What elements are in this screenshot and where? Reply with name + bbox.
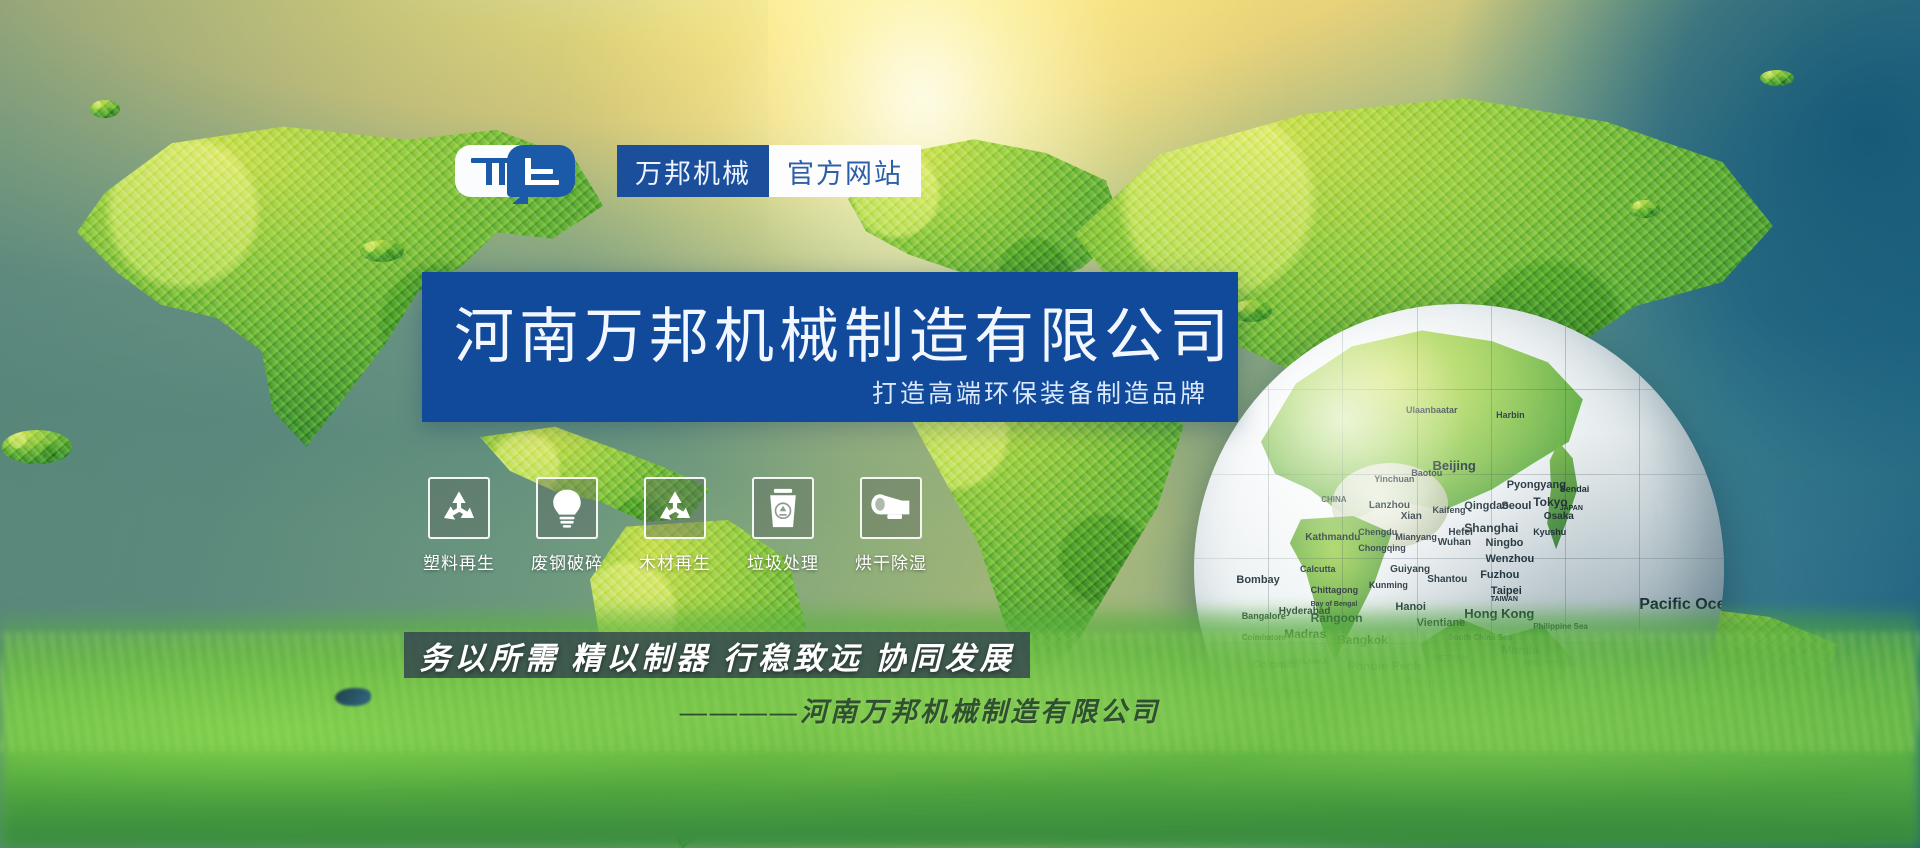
header-tabs: 万邦机械 官方网站 <box>617 145 921 197</box>
logo-e-mark <box>525 158 559 185</box>
insect-silhouette <box>335 688 371 706</box>
page-title: 河南万邦机械制造有限公司 <box>454 288 1234 375</box>
brand-logo[interactable] <box>455 145 575 197</box>
feature-label: 垃圾处理 <box>747 549 819 574</box>
feature-label: 废钢破碎 <box>531 549 603 574</box>
tab-company-name[interactable]: 万邦机械 <box>617 145 769 197</box>
blower-dryer-icon <box>869 492 913 524</box>
trash-bin-recycle-icon <box>766 487 800 529</box>
leaf-fleck <box>2 430 72 464</box>
feature-icon-box <box>752 477 814 539</box>
logo-w-mark <box>471 158 511 185</box>
site-header: 万邦机械 官方网站 <box>455 145 921 197</box>
feature-label: 木材再生 <box>639 549 711 574</box>
leaf-fleck <box>360 240 404 262</box>
page-subtitle: 打造高端环保装备制造品牌 <box>872 374 1208 410</box>
leaf-fleck <box>1760 70 1794 86</box>
feature-item-wood-recycling[interactable]: 木材再生 <box>634 477 716 574</box>
feature-list: 塑料再生 废钢破碎 <box>418 477 932 574</box>
slogan-attribution: ————河南万邦机械制造有限公司 <box>680 690 1200 729</box>
recycle-icon <box>439 488 479 528</box>
feature-item-drying-dehumidifying[interactable]: 烘干除湿 <box>850 477 932 574</box>
feature-icon-box <box>428 477 490 539</box>
lightbulb-icon <box>548 488 586 528</box>
grass-shadow <box>0 758 1920 848</box>
feature-item-plastic-recycling[interactable]: 塑料再生 <box>418 477 500 574</box>
hero-banner: UlaanbaatarBeijingYinchuanLanzhouCHINAXi… <box>0 0 1920 848</box>
leaf-fleck <box>90 100 120 118</box>
hero-panel: 河南万邦机械制造有限公司 打造高端环保装备制造品牌 <box>422 272 1238 422</box>
feature-icon-box <box>536 477 598 539</box>
slogan-text: 务以所需 精以制器 行稳致远 协同发展 <box>404 628 1030 682</box>
tab-official-site[interactable]: 官方网站 <box>769 145 921 197</box>
recycle-icon <box>655 488 695 528</box>
feature-icon-box <box>860 477 922 539</box>
leaf-fleck <box>1630 200 1660 218</box>
feature-label: 烘干除湿 <box>855 549 927 574</box>
feature-icon-box <box>644 477 706 539</box>
feature-item-scrap-steel-crushing[interactable]: 废钢破碎 <box>526 477 608 574</box>
feature-label: 塑料再生 <box>423 549 495 574</box>
feature-item-waste-treatment[interactable]: 垃圾处理 <box>742 477 824 574</box>
